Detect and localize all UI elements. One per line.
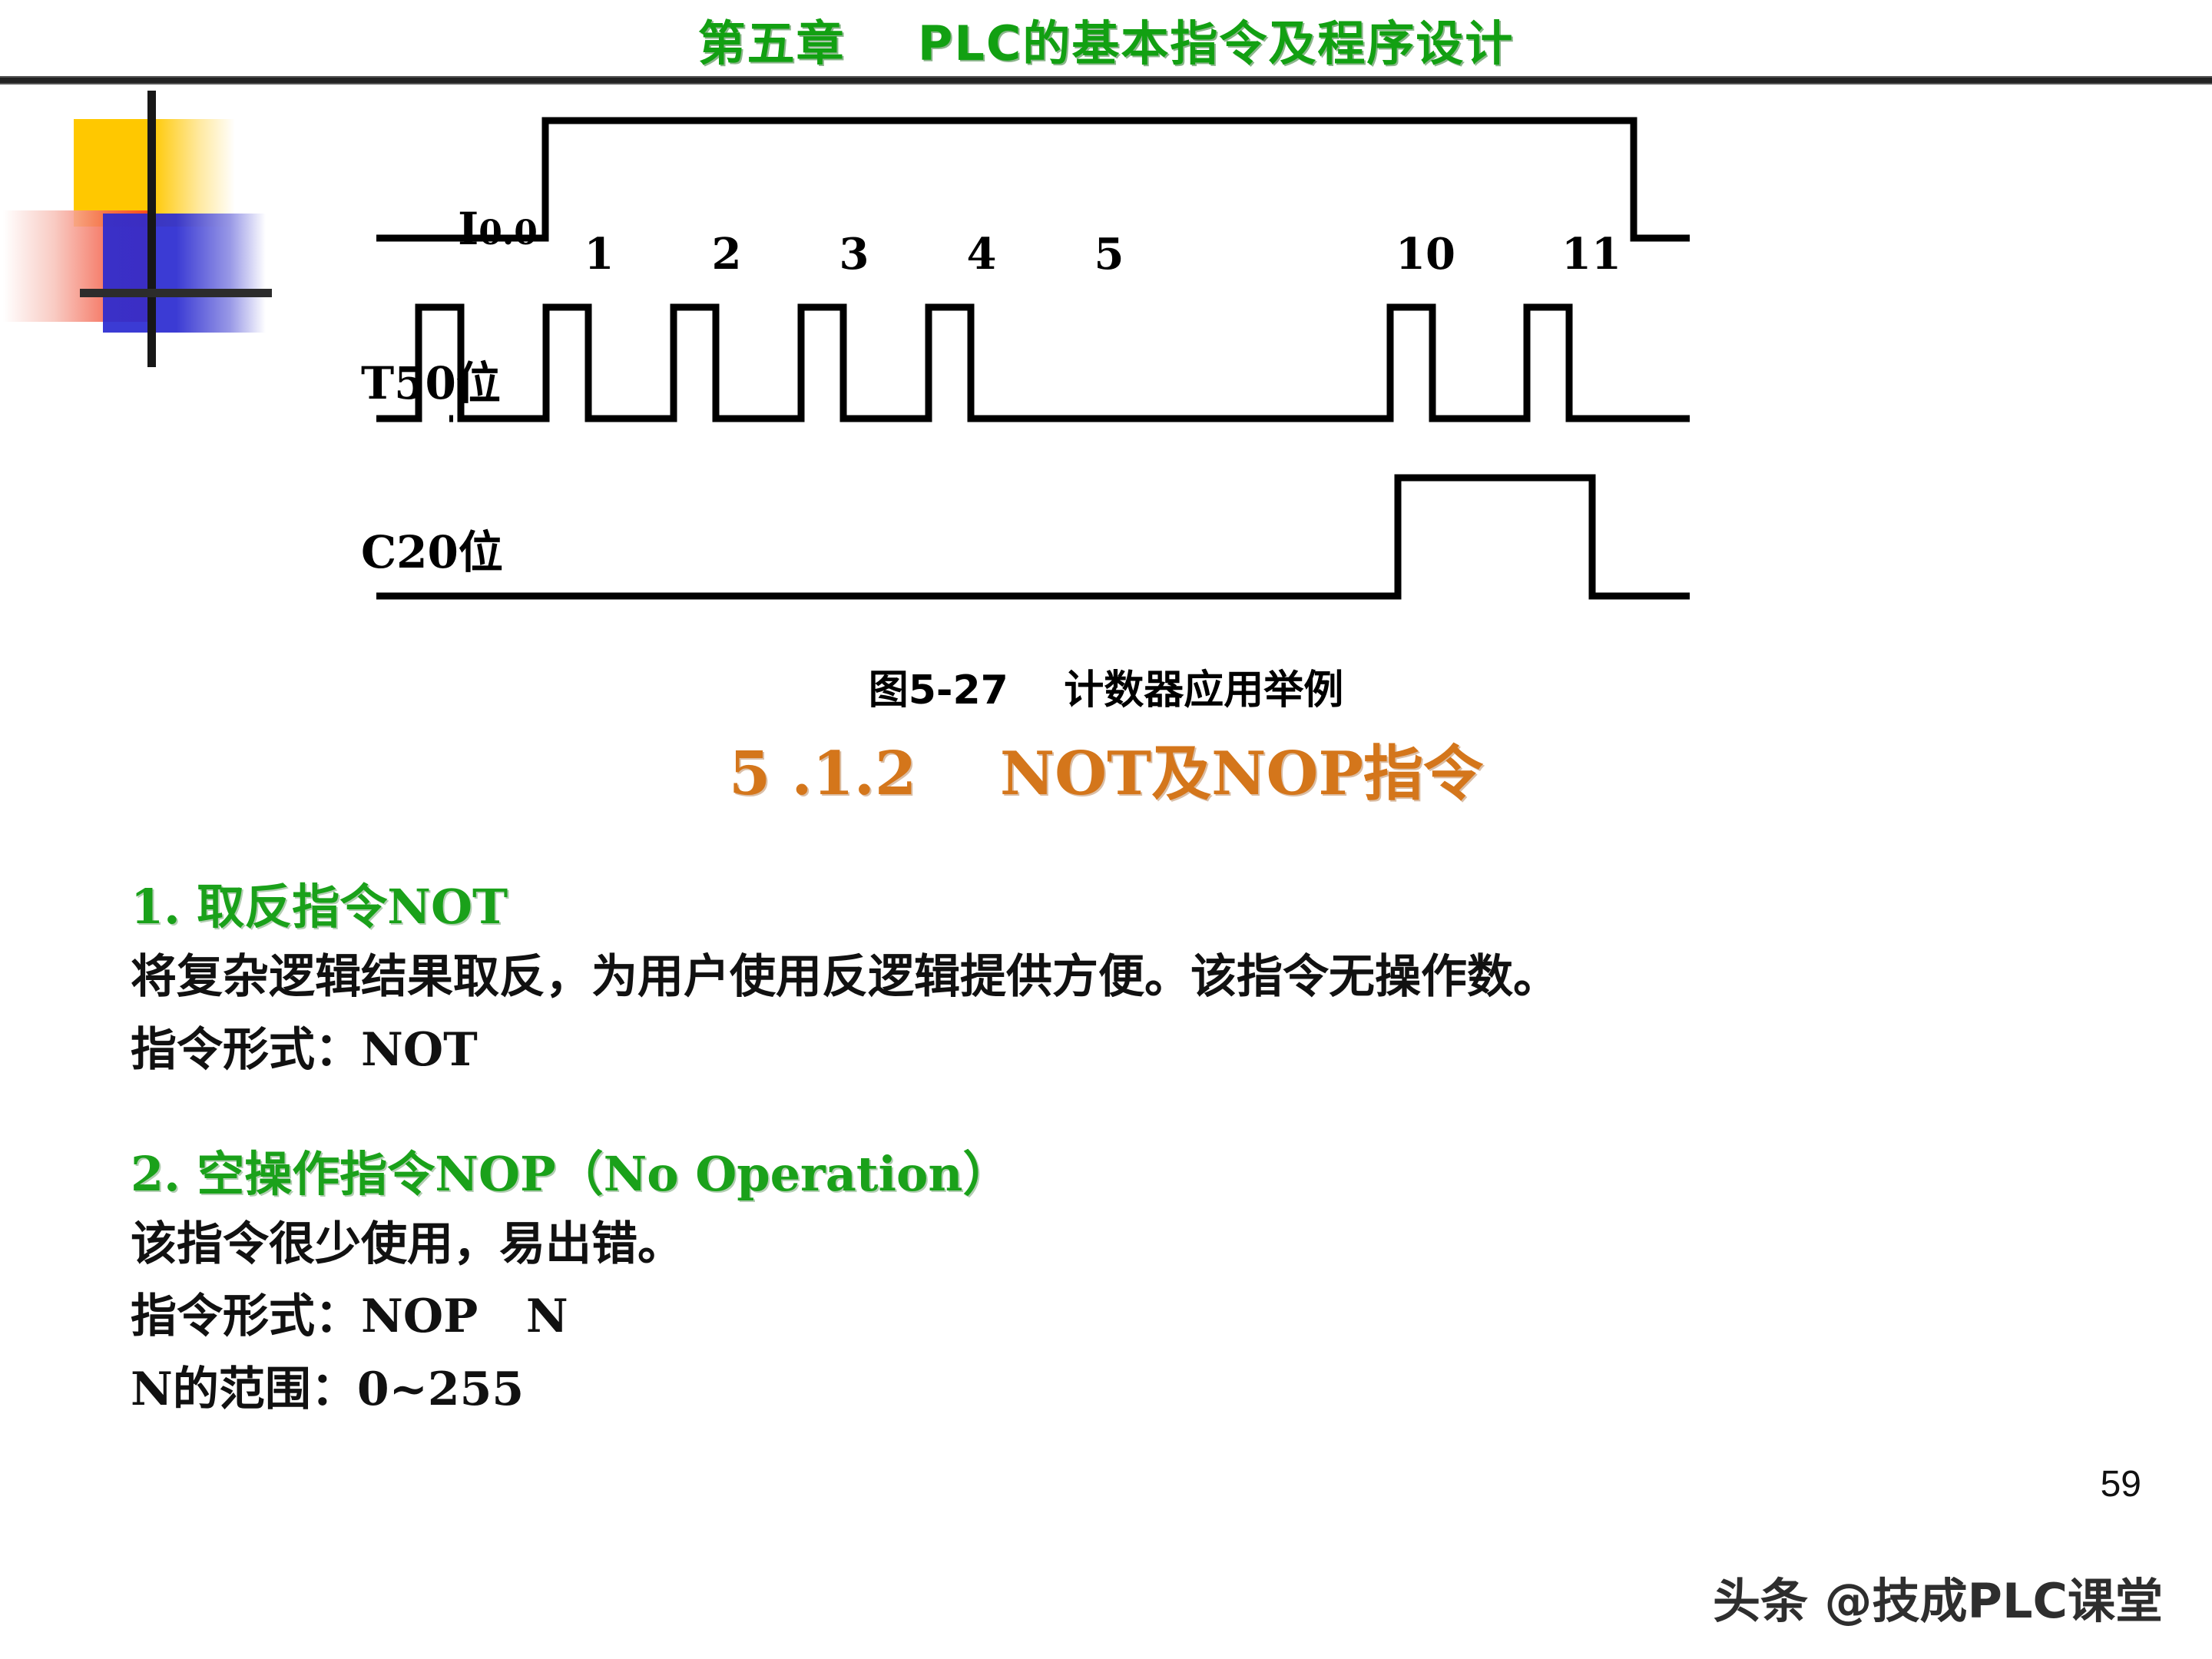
signal-label-i00-sub: 0.0 (478, 214, 538, 253)
watermark: 头条 @技成PLC课堂 (1713, 1562, 2163, 1631)
count-label-1: 1 (584, 229, 614, 280)
page-number: 59 (2101, 1463, 2141, 1505)
paragraph-nop-3: N的范围：0~255 (131, 1360, 2128, 1419)
count-label-5: 5 (1094, 229, 1124, 280)
count-label-11: 11 (1561, 229, 1621, 280)
count-label-2: 2 (712, 229, 742, 280)
count-label-4: 4 (967, 229, 997, 280)
body-content: 1. 取反指令NOT 将复杂逻辑结果取反，为用户使用反逻辑提供方便。该指令无操作… (131, 868, 2128, 1433)
section-spacer (131, 1094, 2128, 1135)
paragraph-not-2: 指令形式：NOT (131, 1021, 2128, 1080)
signal-label-t50: T50位 (361, 347, 501, 412)
signal-label-i00: I0.0 (365, 151, 538, 307)
section-heading: 5 .1.2 NOT及NOP指令 (0, 726, 2212, 812)
count-label-10: 10 (1396, 229, 1455, 280)
paragraph-nop-2: 指令形式：NOP N (131, 1287, 2128, 1346)
timing-diagram: I0.0 T50位 C20位 1 2 3 4 5 10 11 (0, 0, 2212, 676)
subheading-nop: 2. 空操作指令NOP（No Operation） (131, 1135, 2128, 1204)
timing-diagram-svg (0, 0, 2212, 676)
waveform-t50 (376, 307, 1690, 419)
paragraph-not-1: 将复杂逻辑结果取反，为用户使用反逻辑提供方便。该指令无操作数。 (131, 948, 2128, 1007)
waveform-i00 (376, 121, 1690, 238)
count-label-3: 3 (839, 229, 869, 280)
figure-caption: 图5-27 计数器应用举例 (0, 657, 2212, 715)
waveform-c20 (376, 478, 1690, 596)
paragraph-nop-1: 该指令很少使用，易出错。 (131, 1215, 2128, 1274)
slide-page: 第五章 PLC的基本指令及程序设计 I0.0 T50位 C20 (0, 0, 2212, 1659)
signal-label-c20: C20位 (361, 516, 503, 581)
signal-label-i00-main: I (458, 203, 478, 255)
subheading-not: 1. 取反指令NOT (131, 868, 2128, 937)
